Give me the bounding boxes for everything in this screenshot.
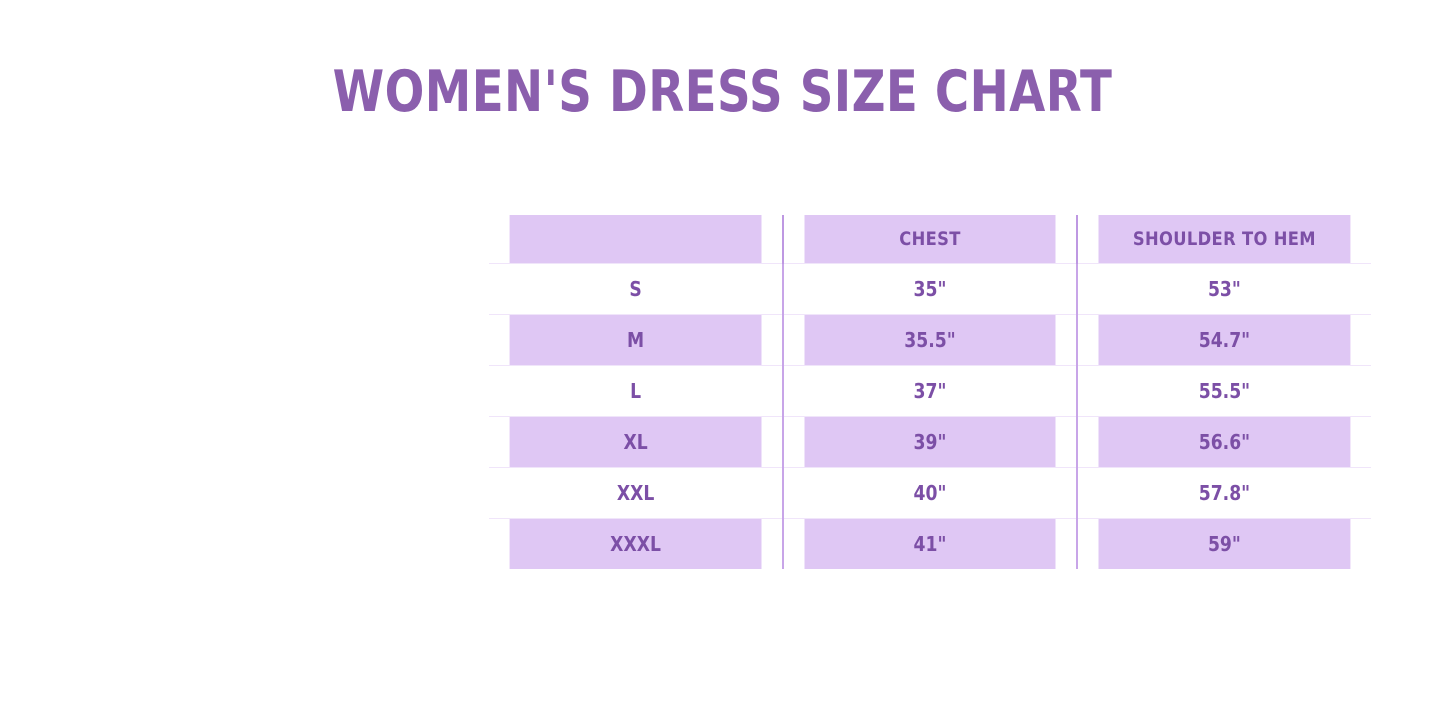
column-header-shoulder-to-hem: SHOULDER TO HEM bbox=[1098, 215, 1351, 264]
cell-shoulder-to-hem: 54.7" bbox=[1098, 315, 1351, 366]
table-row: XXXL 41" 59" bbox=[489, 519, 1371, 570]
size-chart-table: CHEST SHOULDER TO HEM S 35" 53" M 35.5" … bbox=[489, 215, 1371, 569]
table-row: S 35" 53" bbox=[489, 264, 1371, 315]
page-title: WOMEN'S DRESS SIZE CHART bbox=[130, 56, 1315, 128]
table-row: M 35.5" 54.7" bbox=[489, 315, 1371, 366]
table-row: XXL 40" 57.8" bbox=[489, 468, 1371, 519]
table-row: L 37" 55.5" bbox=[489, 366, 1371, 417]
table-row: XL 39" 56.6" bbox=[489, 417, 1371, 468]
table-header-row: CHEST SHOULDER TO HEM bbox=[489, 215, 1371, 264]
size-chart-page: WOMEN'S DRESS SIZE CHART CHEST SHOULDER … bbox=[0, 0, 1445, 723]
cell-chest: 35.5" bbox=[804, 315, 1057, 366]
cell-chest: 40" bbox=[804, 468, 1057, 519]
cell-shoulder-to-hem: 59" bbox=[1098, 519, 1351, 570]
cell-chest: 41" bbox=[804, 519, 1057, 570]
cell-chest: 39" bbox=[804, 417, 1057, 468]
cell-size: XL bbox=[510, 417, 763, 468]
cell-size: L bbox=[510, 366, 763, 417]
cell-shoulder-to-hem: 53" bbox=[1098, 264, 1351, 315]
cell-shoulder-to-hem: 55.5" bbox=[1098, 366, 1351, 417]
column-header-chest: CHEST bbox=[804, 215, 1057, 264]
cell-size: S bbox=[510, 264, 763, 315]
column-header-size bbox=[510, 215, 763, 264]
cell-chest: 37" bbox=[804, 366, 1057, 417]
cell-chest: 35" bbox=[804, 264, 1057, 315]
table-header: CHEST SHOULDER TO HEM bbox=[489, 215, 1371, 264]
table-body: S 35" 53" M 35.5" 54.7" L 37" 55.5" XL 3… bbox=[489, 264, 1371, 570]
cell-size: XXL bbox=[510, 468, 763, 519]
cell-shoulder-to-hem: 57.8" bbox=[1098, 468, 1351, 519]
cell-size: XXXL bbox=[510, 519, 763, 570]
cell-shoulder-to-hem: 56.6" bbox=[1098, 417, 1351, 468]
cell-size: M bbox=[510, 315, 763, 366]
